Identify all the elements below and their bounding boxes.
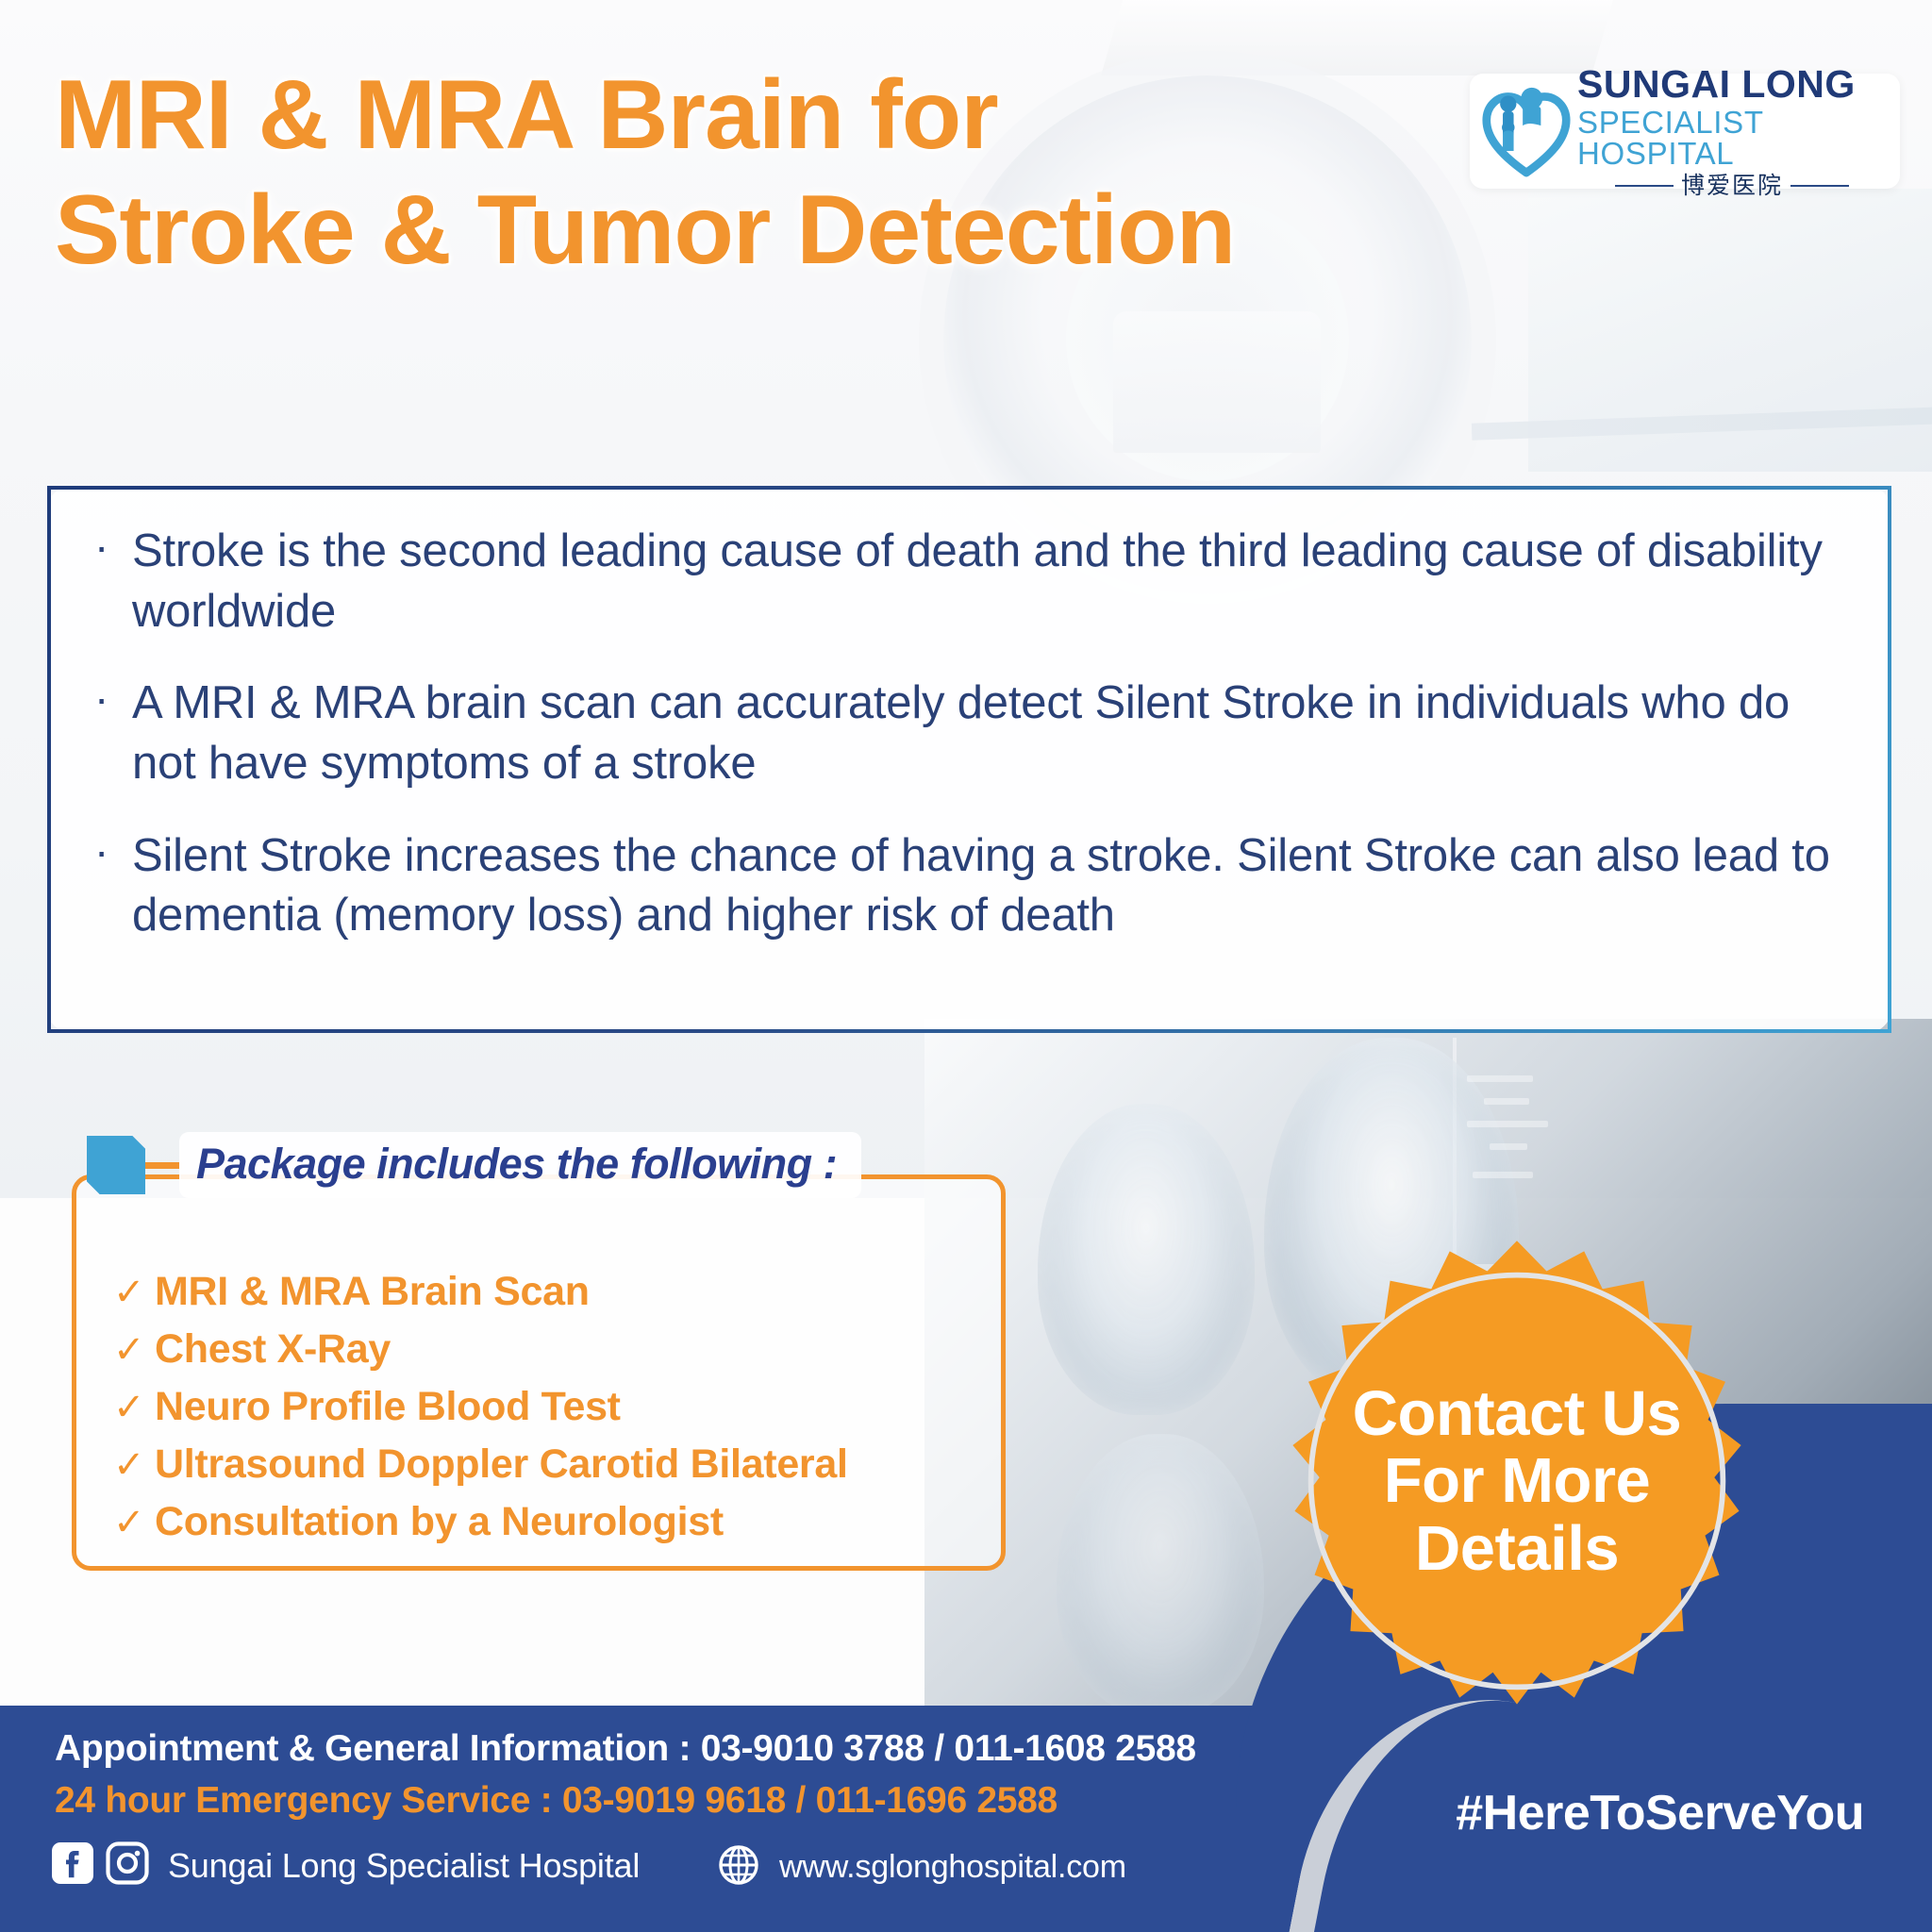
- globe-icon: [717, 1843, 760, 1891]
- check-icon: ✓: [113, 1501, 155, 1544]
- package-list: ✓ MRI & MRA Brain Scan ✓ Chest X-Ray ✓ N…: [113, 1269, 848, 1557]
- appointment-info: Appointment & General Information : 03-9…: [55, 1728, 1196, 1770]
- fact-bullet: · Stroke is the second leading cause of …: [94, 522, 1850, 641]
- social-handle: Sungai Long Specialist Hospital: [168, 1846, 640, 1886]
- page-title-line2: Stroke & Tumor Detection: [55, 174, 1451, 289]
- hashtag-slogan: #HereToServeYou: [1456, 1785, 1864, 1841]
- logo-chinese-row: 博爱医院: [1577, 174, 1887, 197]
- fact-bullet: · Silent Stroke increases the chance of …: [94, 826, 1850, 946]
- check-icon: ✓: [113, 1386, 155, 1429]
- brain-scan-image: [1038, 1104, 1255, 1415]
- package-heading-wrap: Package includes the following :: [179, 1132, 861, 1198]
- mri-patient-table: [1113, 311, 1321, 453]
- bullet-text: A MRI & MRA brain scan can accurately de…: [132, 674, 1850, 793]
- bullet-marker: ·: [94, 522, 132, 641]
- logo-wordmark: SUNGAI LONG SPECIALIST HOSPITAL 博爱医院: [1577, 65, 1887, 197]
- package-heading: Package includes the following :: [196, 1140, 837, 1188]
- bullet-text: Stroke is the second leading cause of de…: [132, 522, 1850, 641]
- package-connector-line: [145, 1162, 179, 1169]
- website-url: www.sglonghospital.com: [779, 1849, 1126, 1886]
- logo-rule-left: [1615, 185, 1674, 187]
- page-title-line1: MRI & MRA Brain for: [55, 58, 1451, 174]
- instagram-icon[interactable]: [106, 1841, 149, 1890]
- starburst-shape: [1272, 1236, 1762, 1726]
- logo-rule-right: [1790, 185, 1849, 187]
- social-row: Sungai Long Specialist Hospital: [51, 1841, 640, 1890]
- facebook-icon[interactable]: [51, 1841, 94, 1890]
- page-title: MRI & MRA Brain for Stroke & Tumor Detec…: [55, 58, 1451, 288]
- contact-us-badge[interactable]: Contact Us For More Details: [1272, 1236, 1762, 1726]
- bullet-marker: ·: [94, 674, 132, 793]
- poster-root: MRI & MRA Brain for Stroke & Tumor Detec…: [0, 0, 1932, 1932]
- package-list-item: ✓ Chest X-Ray: [113, 1326, 848, 1373]
- logo-name-secondary: SPECIALIST HOSPITAL: [1577, 107, 1887, 169]
- logo-name-primary: SUNGAI LONG: [1577, 65, 1887, 104]
- website-row[interactable]: www.sglonghospital.com: [717, 1843, 1126, 1891]
- package-item-label: Consultation by a Neurologist: [155, 1499, 724, 1545]
- package-item-label: MRI & MRA Brain Scan: [155, 1269, 590, 1315]
- package-item-label: Neuro Profile Blood Test: [155, 1384, 621, 1430]
- check-icon: ✓: [113, 1443, 155, 1487]
- check-icon: ✓: [113, 1328, 155, 1372]
- logo-chinese-name: 博爱医院: [1681, 174, 1783, 197]
- bullet-marker: ·: [94, 826, 132, 946]
- package-list-item: ✓ Neuro Profile Blood Test: [113, 1384, 848, 1430]
- brain-scan-image: [1057, 1434, 1264, 1717]
- package-list-item: ✓ Consultation by a Neurologist: [113, 1499, 848, 1545]
- emergency-info: 24 hour Emergency Service : 03-9019 9618…: [55, 1780, 1058, 1822]
- bullet-text: Silent Stroke increases the chance of ha…: [132, 826, 1850, 946]
- check-icon: ✓: [113, 1271, 155, 1314]
- package-heading-row: Package includes the following :: [87, 1132, 861, 1198]
- fact-bullet: · A MRI & MRA brain scan can accurately …: [94, 674, 1850, 793]
- package-item-label: Ultrasound Doppler Carotid Bilateral: [155, 1441, 848, 1488]
- package-tab-icon: [87, 1136, 145, 1194]
- package-list-item: ✓ Ultrasound Doppler Carotid Bilateral: [113, 1441, 848, 1488]
- facts-card: · Stroke is the second leading cause of …: [47, 486, 1891, 1033]
- package-item-label: Chest X-Ray: [155, 1326, 391, 1373]
- hospital-logo: SUNGAI LONG SPECIALIST HOSPITAL 博爱医院: [1470, 74, 1900, 189]
- package-list-item: ✓ MRI & MRA Brain Scan: [113, 1269, 848, 1315]
- heart-family-icon: [1481, 84, 1572, 178]
